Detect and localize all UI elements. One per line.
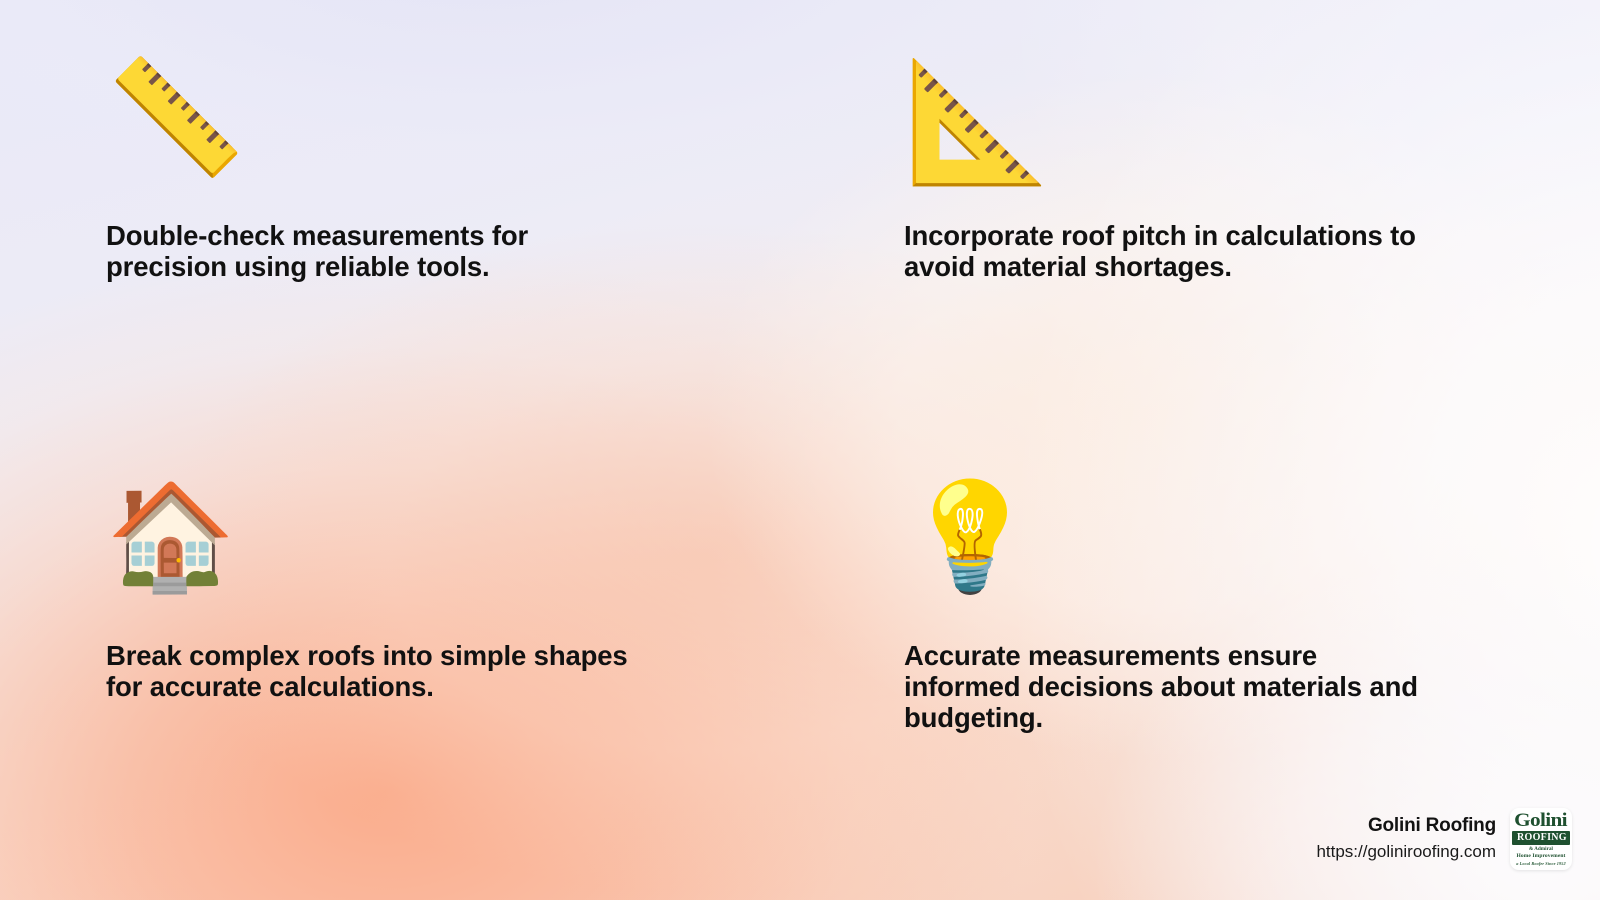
logo-script-word: Golini <box>1515 812 1568 829</box>
house-icon: 🏠 <box>106 484 726 608</box>
light-bulb-icon: 💡 <box>904 484 1524 608</box>
brand-text-block: Golini Roofing https://goliniroofing.com <box>1316 814 1496 864</box>
tip-card-2: 📐 Incorporate roof pitch in calculations… <box>904 62 1524 282</box>
triangular-ruler-icon: 📐 <box>904 62 1524 190</box>
tip-card-3: 🏠 Break complex roofs into simple shapes… <box>106 484 726 702</box>
tips-grid: 📏 Double-check measurements for precisio… <box>0 0 1600 900</box>
brand-name: Golini Roofing <box>1316 814 1496 838</box>
tip-card-4: 💡 Accurate measurements ensure informed … <box>904 484 1524 734</box>
tip-card-1-text: Double-check measurements for precision … <box>106 220 706 282</box>
golini-roofing-logo: Golini ROOFING & Admiral Home Improvemen… <box>1510 808 1572 870</box>
brand-footer: Golini Roofing https://goliniroofing.com… <box>1316 808 1572 870</box>
tip-card-2-text: Incorporate roof pitch in calculations t… <box>904 220 1524 282</box>
brand-url[interactable]: https://goliniroofing.com <box>1316 841 1496 864</box>
logo-banner-word: ROOFING <box>1512 831 1570 846</box>
straight-ruler-icon: 📏 <box>106 62 706 190</box>
logo-subline-3: a Local Roofer Since 1952 <box>1516 861 1566 866</box>
logo-subline-2: Home Improvement <box>1516 853 1565 859</box>
tip-card-3-text: Break complex roofs into simple shapes f… <box>106 640 726 702</box>
tip-card-4-text: Accurate measurements ensure informed de… <box>904 640 1524 734</box>
tip-card-1: 📏 Double-check measurements for precisio… <box>106 62 706 282</box>
